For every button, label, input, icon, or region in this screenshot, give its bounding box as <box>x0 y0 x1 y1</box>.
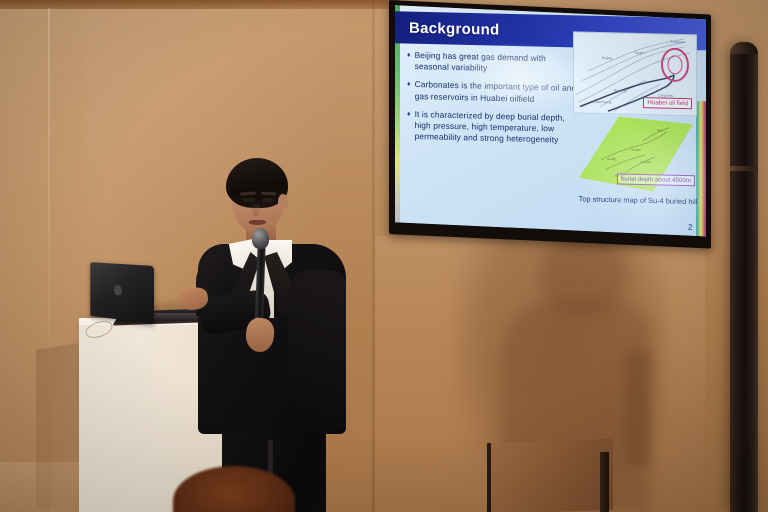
svg-text:Tianjin: Tianjin <box>634 51 644 55</box>
slide-title: Background <box>409 19 500 38</box>
svg-text:Su-402: Su-402 <box>631 148 641 152</box>
screen-edge-color-strip-right <box>696 101 706 236</box>
svg-text:Beijing: Beijing <box>602 56 612 60</box>
su4-buried-hill-map: Su-4 Su-402 Su-401 Su-403 Su-404 burial … <box>571 113 697 194</box>
svg-text:Baoding: Baoding <box>614 88 627 92</box>
panel-board-edge <box>600 452 609 512</box>
bullet-marker-icon: ♦ <box>407 109 411 120</box>
laptop-logo <box>114 285 122 296</box>
presenter-ear <box>278 194 288 209</box>
presenter-shadow-microphone <box>625 348 651 468</box>
list-item: ♦ It is characterized by deep burial dep… <box>407 109 582 147</box>
svg-text:Su-403: Su-403 <box>641 160 651 164</box>
burial-depth-callout: burial depth about 4500m <box>617 173 695 186</box>
laptop-lid <box>90 262 154 324</box>
bullet-marker-icon: ♦ <box>407 50 411 61</box>
svg-text:Shijiazhuang: Shijiazhuang <box>592 100 612 104</box>
microphone-head-icon <box>252 228 269 249</box>
presentation-slide: Background ♦ Beijing has great gas deman… <box>395 5 706 236</box>
bullet-marker-icon: ♦ <box>407 79 411 90</box>
figure-caption: Top structure map of Su-4 buried hill <box>563 194 706 207</box>
presenter-right-arm <box>288 270 346 430</box>
presenter-mouth <box>249 220 266 225</box>
slide-page-number: 2 <box>688 223 692 232</box>
presenter-eye-right <box>262 198 274 202</box>
dark-column-speaker <box>730 42 758 512</box>
screen-display-area: Background ♦ Beijing has great gas deman… <box>395 5 706 236</box>
leaning-panel-board <box>487 439 613 512</box>
svg-text:Su-4: Su-4 <box>657 128 664 132</box>
regional-contour-map: Beijing Tianjin Tangshan Baoding Shijiaz… <box>573 31 697 116</box>
presenter-nose <box>252 202 260 216</box>
presentation-photo-scene: Background ♦ Beijing has great gas deman… <box>0 0 768 512</box>
bullet-text: Carbonates is the important type of oil … <box>415 79 582 106</box>
svg-text:Tangshan: Tangshan <box>670 40 685 44</box>
slide-bullet-list: ♦ Beijing has great gas demand with seas… <box>407 50 582 154</box>
presenter-eyebrow-right <box>261 192 276 196</box>
presenter <box>160 140 370 512</box>
wall-top-trim <box>0 0 400 9</box>
column-joint <box>730 166 758 171</box>
bullet-text: It is characterized by deep burial depth… <box>415 109 582 147</box>
list-item: ♦ Carbonates is the important type of oi… <box>407 79 582 106</box>
svg-text:Su-401: Su-401 <box>607 157 617 161</box>
projection-screen: Background ♦ Beijing has great gas deman… <box>389 0 711 249</box>
huabei-oil-field-callout: Huabei oil field <box>643 97 692 110</box>
bullet-text: Beijing has great gas demand with season… <box>415 50 582 77</box>
list-item: ♦ Beijing has great gas demand with seas… <box>407 50 582 77</box>
